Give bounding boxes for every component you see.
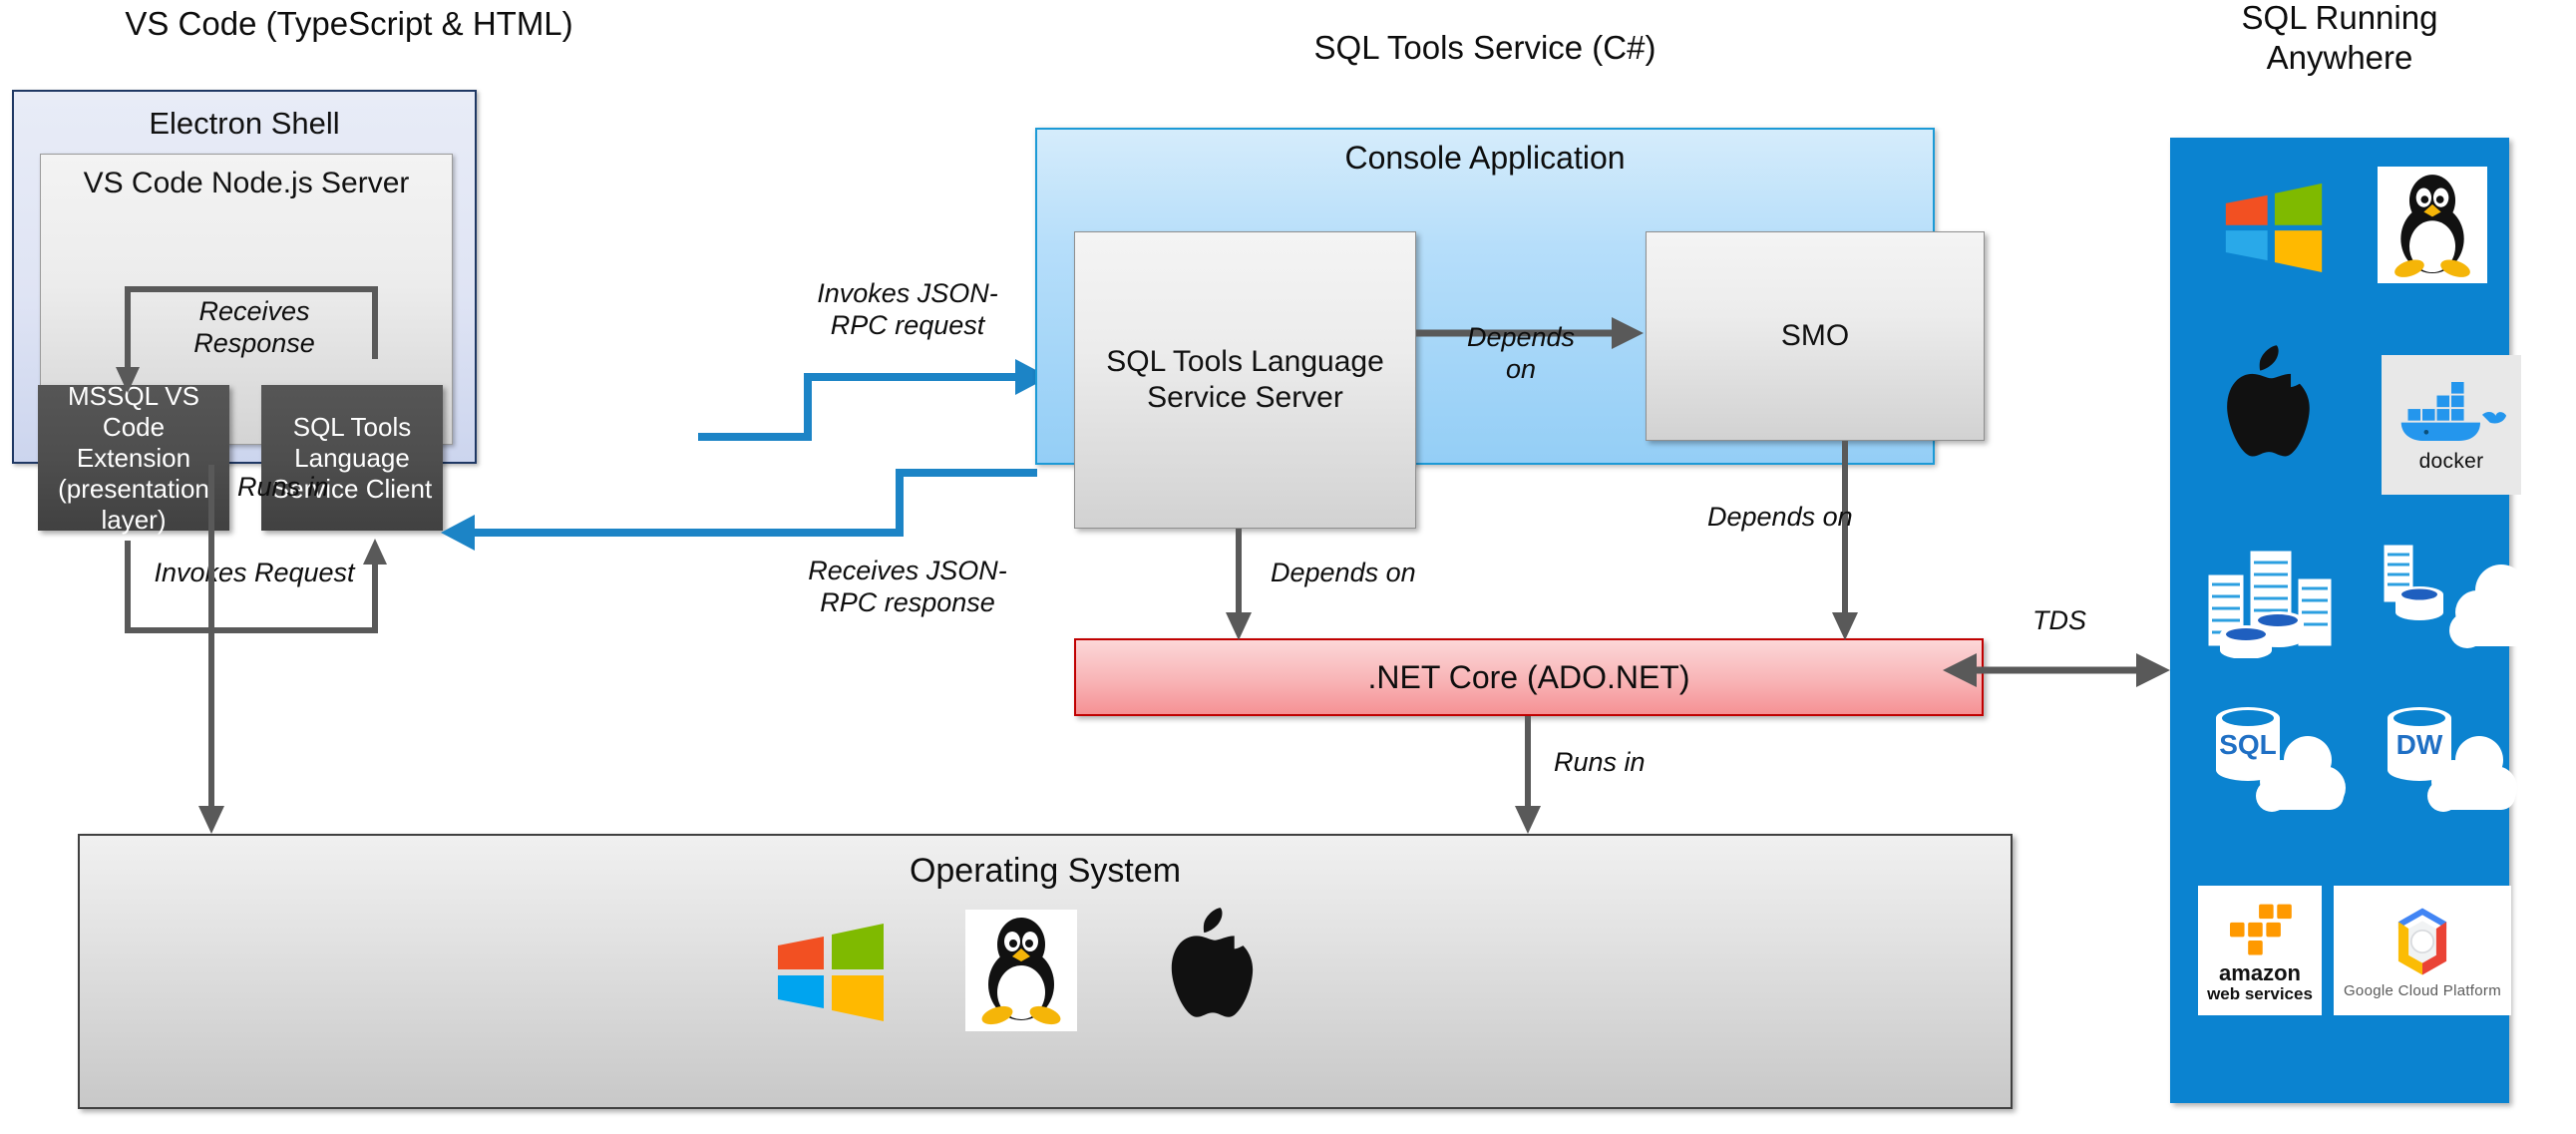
windows-icon xyxy=(2224,180,2324,275)
caption-sql-running-anywhere: SQL Running Anywhere xyxy=(2170,0,2509,78)
server-depends-on-netcore-arrow xyxy=(1227,529,1257,648)
azure-sql-database-icon: SQL xyxy=(2190,698,2350,816)
diagram-canvas: VS Code (TypeScript & HTML) SQL Tools Se… xyxy=(0,0,2576,1134)
service-runs-in-label: Runs in xyxy=(1554,746,1753,778)
tds-arrow xyxy=(1935,650,2184,690)
smo-depends-on-netcore-arrow xyxy=(1833,441,1863,648)
vscode-runs-in-arrow xyxy=(199,465,229,844)
receives-response-label: Receives Response xyxy=(140,295,369,359)
apple-icon xyxy=(2210,343,2328,473)
private-cloud-database-icon xyxy=(2374,539,2533,658)
caption-vscode: VS Code (TypeScript & HTML) xyxy=(0,4,698,44)
invokes-request-label: Invokes Request xyxy=(140,557,369,588)
invokes-json-rpc-request-label: Invokes JSON- RPC request xyxy=(788,277,1027,341)
vscode-runs-in-label: Runs in xyxy=(237,471,437,503)
console-application-title: Console Application xyxy=(1037,140,1933,177)
smo-depends-on-netcore-label: Depends on xyxy=(1707,501,1967,533)
invokes-json-rpc-request-arrow xyxy=(698,329,1057,459)
sql-tools-language-service-server-box[interactable]: SQL Tools Language Service Server xyxy=(1074,231,1416,529)
service-runs-in-arrow xyxy=(1516,716,1546,846)
net-core-ado-net-box[interactable]: .NET Core (ADO.NET) xyxy=(1074,638,1984,716)
linux-tux-icon xyxy=(965,910,1077,1031)
docker-label: docker xyxy=(2419,450,2484,474)
gcp-label: Google Cloud Platform xyxy=(2344,982,2501,999)
windows-icon xyxy=(776,920,886,1024)
receives-json-rpc-response-label: Receives JSON- RPC response xyxy=(788,555,1027,618)
vscode-node-server-title: VS Code Node.js Server xyxy=(41,167,452,200)
docker-icon: docker xyxy=(2382,355,2521,495)
server-depends-on-smo-label: Depends on xyxy=(1426,321,1616,385)
smo-box[interactable]: SMO xyxy=(1646,231,1985,441)
electron-shell-title: Electron Shell xyxy=(14,106,475,142)
linux-tux-icon xyxy=(2378,167,2487,283)
invokes-request-arrow xyxy=(120,535,389,644)
google-cloud-platform-icon: Google Cloud Platform xyxy=(2334,886,2511,1015)
apple-icon xyxy=(1157,906,1269,1033)
tds-label: TDS xyxy=(1970,604,2149,636)
azure-sql-data-warehouse-icon: DW xyxy=(2362,698,2521,816)
sql-tools-language-service-client-box[interactable]: SQL Tools Language Service Client xyxy=(261,385,443,531)
amazon-web-services-icon: amazon web services xyxy=(2198,886,2322,1015)
operating-system-title: Operating System xyxy=(80,852,2011,891)
aws-label-line2: web services xyxy=(2207,984,2313,1003)
aws-label-line1: amazon xyxy=(2219,962,2301,984)
sql-cylinder-label: SQL xyxy=(2219,729,2277,760)
server-depends-on-netcore-label: Depends on xyxy=(1271,557,1530,588)
dw-cylinder-label: DW xyxy=(2396,729,2443,760)
caption-sql-tools-service: SQL Tools Service (C#) xyxy=(1035,28,1935,68)
on-premises-datacenter-icon xyxy=(2200,539,2350,658)
